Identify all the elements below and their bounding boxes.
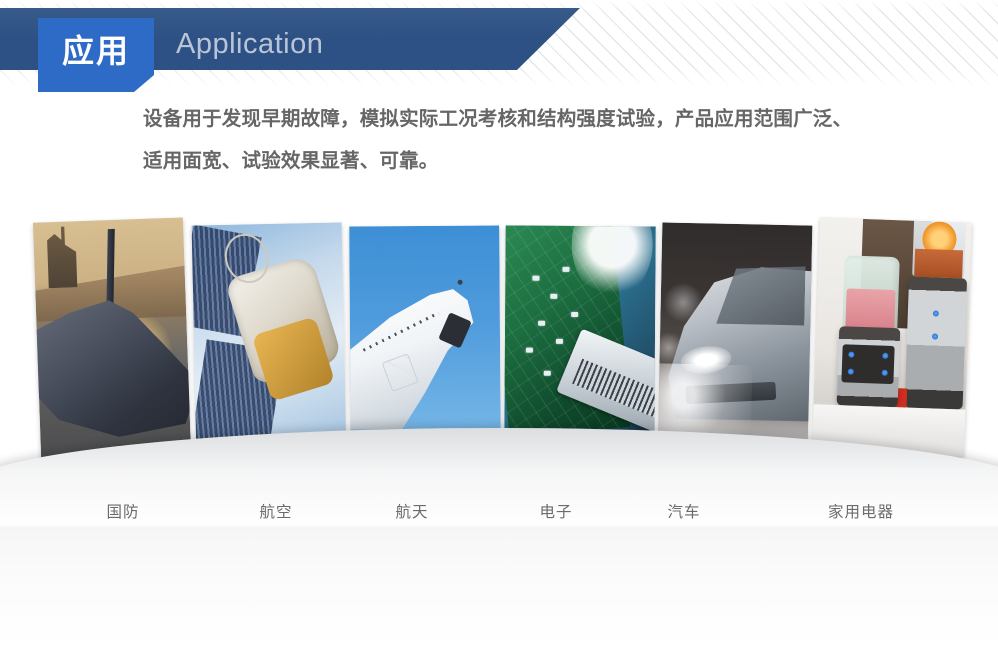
caption-defense: 国防: [106, 500, 139, 522]
gallery-image-defense[interactable]: [33, 217, 191, 458]
gallery-image-aviation[interactable]: [192, 222, 347, 455]
caption-aviation: 航空: [259, 500, 292, 522]
fighter-jet-aircraft-carrier-icon: [33, 217, 191, 458]
gallery-captions: 国防 航空 航天 电子 汽车 家用电器: [0, 500, 998, 534]
satellite-in-orbit-icon: [192, 222, 347, 455]
section-header: 应用 Application: [0, 0, 998, 92]
circuit-board-connector-icon: [504, 225, 656, 452]
application-section-page: 应用 Application 设备用于发现早期故障，模拟实际工况考核和结构强度试…: [0, 0, 998, 601]
section-description: 设备用于发现早期故障，模拟实际工况考核和结构强度试验，产品应用范围广泛、 适用面…: [143, 98, 981, 182]
section-badge-label: 应用: [38, 18, 154, 84]
image-strip: [0, 196, 998, 466]
caption-electronics: 电子: [539, 500, 572, 522]
caption-automotive: 汽车: [667, 500, 700, 522]
kitchen-blender-appliances-icon: [812, 217, 972, 456]
gallery-image-home-appliances[interactable]: [812, 217, 972, 456]
gallery-image-automotive[interactable]: [658, 222, 813, 453]
gallery-image-electronics[interactable]: [504, 225, 656, 452]
caption-aerospace: 航天: [395, 500, 428, 522]
gallery-image-aerospace[interactable]: [349, 225, 501, 452]
airliner-nose-blue-sky-icon: [349, 225, 501, 452]
description-line-1: 设备用于发现早期故障，模拟实际工况考核和结构强度试验，产品应用范围广泛、: [143, 98, 981, 140]
description-line-2: 适用面宽、试验效果显著、可靠。: [143, 140, 981, 182]
caption-home-appliances: 家用电器: [828, 500, 894, 522]
section-english-title: Application: [176, 30, 323, 59]
silver-car-headlights-icon: [658, 222, 813, 453]
gallery-floor-fade: [0, 526, 998, 646]
